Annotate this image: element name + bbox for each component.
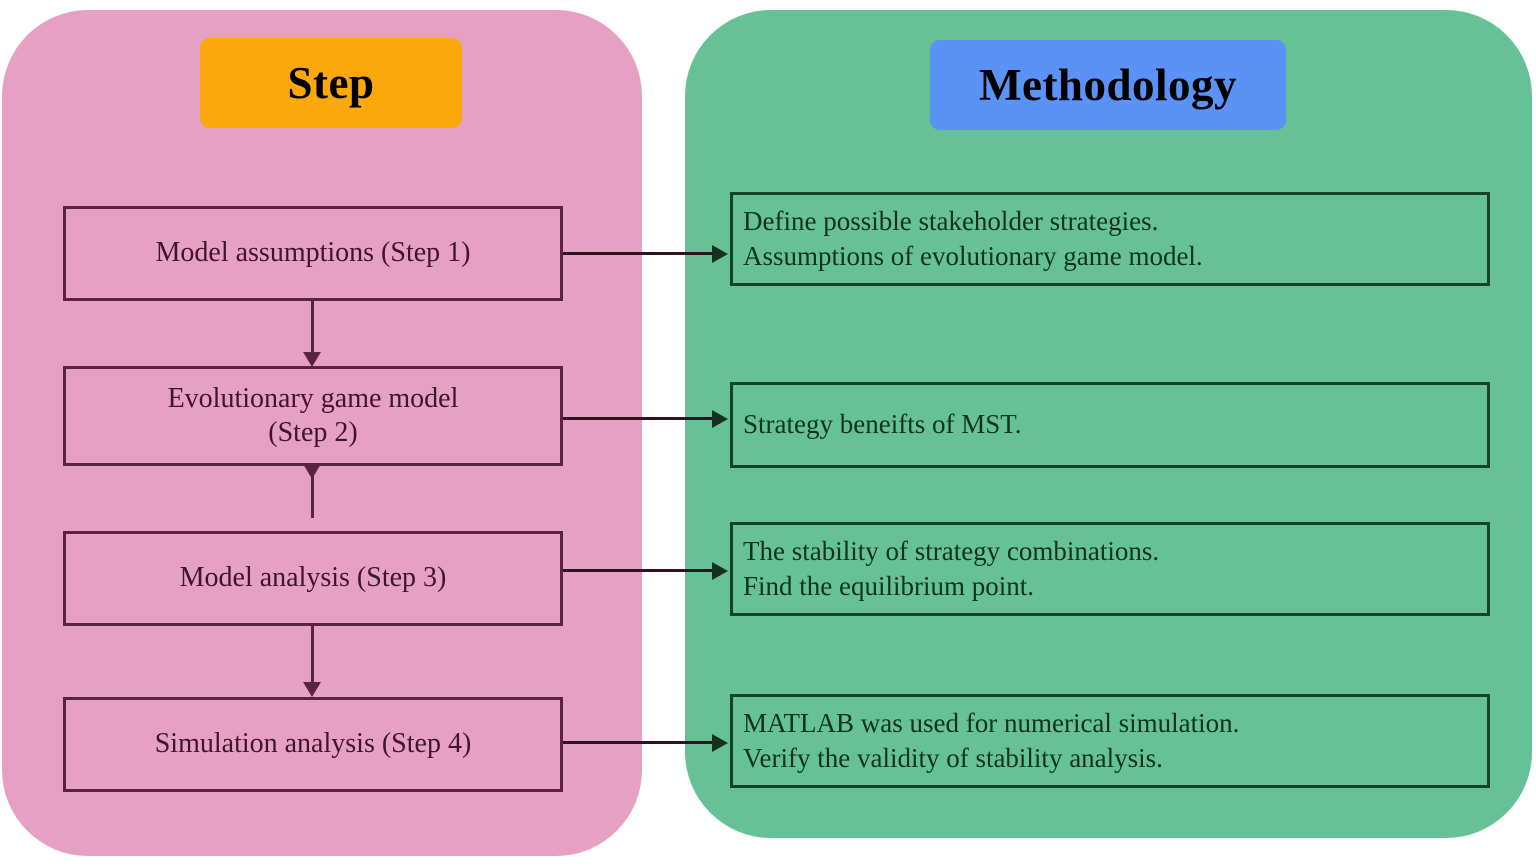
connector-step2-to-methodology2	[563, 417, 715, 420]
connector-step3-to-methodology3	[563, 569, 715, 572]
connector-step3-to-step4	[311, 626, 314, 684]
step-box-3: Model analysis (Step 3)	[63, 531, 563, 626]
step-box-4: Simulation analysis (Step 4)	[63, 697, 563, 792]
connector-step1-to-methodology1	[563, 252, 715, 255]
step-box-2-line1: Evolutionary game model	[168, 383, 459, 414]
arrowhead-right-icon-4	[712, 734, 728, 752]
methodology-box-1-line2: Assumptions of evolutionary game model.	[743, 239, 1477, 274]
step-column-header-badge: Step	[200, 38, 462, 128]
methodology-box-1: Define possible stakeholder strategies. …	[730, 192, 1490, 286]
methodology-column-header-badge: Methodology	[930, 40, 1286, 130]
diagram-canvas: Step Methodology Model assumptions (Step…	[0, 0, 1536, 868]
methodology-box-3: The stability of strategy combinations. …	[730, 522, 1490, 616]
step-box-2: Evolutionary game model (Step 2)	[63, 366, 563, 466]
connector-step4-to-methodology4	[563, 741, 715, 744]
arrowhead-down-icon-2	[303, 464, 321, 479]
methodology-box-2: Strategy beneifts of MST.	[730, 382, 1490, 468]
methodology-box-3-line2: Find the equilibrium point.	[743, 569, 1477, 604]
methodology-box-3-line1: The stability of strategy combinations.	[743, 534, 1477, 569]
methodology-box-4-line2: Verify the validity of stability analysi…	[743, 741, 1477, 776]
methodology-box-4: MATLAB was used for numerical simulation…	[730, 694, 1490, 788]
arrowhead-down-icon-3	[303, 682, 321, 697]
connector-step1-to-step2	[311, 301, 314, 354]
methodology-box-1-line1: Define possible stakeholder strategies.	[743, 204, 1477, 239]
arrowhead-right-icon-1	[712, 245, 728, 263]
methodology-box-4-line1: MATLAB was used for numerical simulation…	[743, 706, 1477, 741]
step-box-1: Model assumptions (Step 1)	[63, 206, 563, 301]
arrowhead-down-icon-1	[303, 352, 321, 367]
arrowhead-right-icon-3	[712, 562, 728, 580]
step-box-2-line2: (Step 2)	[268, 417, 357, 448]
methodology-box-2-line1: Strategy beneifts of MST.	[743, 407, 1477, 442]
arrowhead-right-icon-2	[712, 410, 728, 428]
